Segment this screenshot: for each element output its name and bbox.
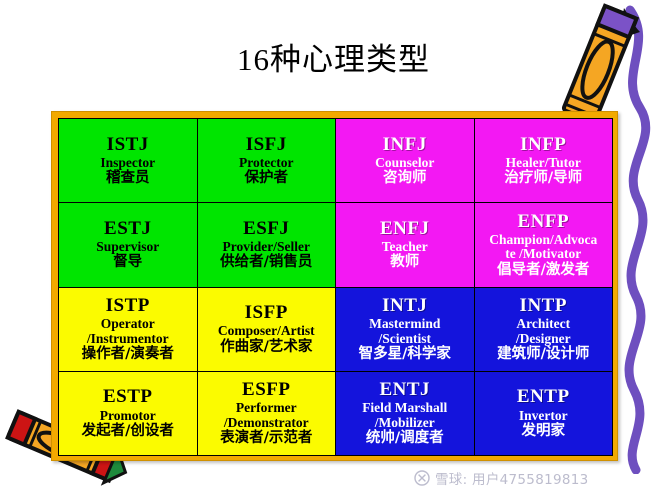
slide-canvas: 16种心理类型 (0, 0, 667, 500)
type-code: ENTJ (379, 380, 430, 400)
type-name-zh: 保护者 (245, 171, 289, 186)
type-cell-enfj[interactable]: ENFJ Teacher 教师 (336, 203, 474, 286)
type-name-zh: 统帅/调度者 (366, 431, 444, 446)
type-name-zh: 教师 (390, 255, 419, 270)
page-title: 16种心理类型 (0, 44, 667, 75)
type-name-en-line2: /Designer (516, 332, 571, 346)
personality-type-grid: ISTJ Inspector 稽查员 ISFJ Protector 保护者 IN… (58, 118, 613, 456)
type-cell-infp[interactable]: INFP Healer/Tutor 治疗师/导师 (475, 119, 613, 202)
type-code: ENFP (517, 212, 569, 232)
type-name-en: Provider/Seller (223, 240, 310, 254)
type-cell-esfp[interactable]: ESFP Performer /Demonstrator 表演者/示范者 (198, 372, 336, 455)
type-name-en-line2: /Scientist (379, 332, 432, 346)
type-name-zh: 治疗师/导师 (504, 171, 582, 186)
type-cell-istp[interactable]: ISTP Operator /Instrumentor 操作者/演奏者 (59, 288, 197, 371)
type-cell-estj[interactable]: ESTJ Supervisor 督导 (59, 203, 197, 286)
type-name-zh: 稽查员 (106, 171, 150, 186)
type-cell-esfj[interactable]: ESFJ Provider/Seller 供给者/销售员 (198, 203, 336, 286)
type-cell-intj[interactable]: INTJ Mastermind /Scientist 智多星/科学家 (336, 288, 474, 371)
type-name-zh: 督导 (113, 255, 142, 270)
type-code: ESTJ (104, 219, 151, 239)
type-cell-isfp[interactable]: ISFP Composer/Artist 作曲家/艺术家 (198, 288, 336, 371)
type-name-en: Champion/Advoca (489, 233, 597, 247)
type-name-en: Protector (239, 156, 293, 170)
type-name-en: Performer (236, 401, 297, 415)
type-code: ISTP (106, 296, 150, 316)
type-name-en-line2: /Instrumentor (87, 332, 169, 346)
type-name-en: Invertor (519, 409, 568, 423)
type-code: ISTJ (107, 135, 149, 155)
type-cell-istj[interactable]: ISTJ Inspector 稽查员 (59, 119, 197, 202)
type-name-en: Field Marshall (362, 401, 447, 415)
type-code: ISFP (245, 303, 288, 323)
watermark: 雪球: 用户4755819813 (414, 468, 589, 488)
type-cell-enfp[interactable]: ENFP Champion/Advoca te /Motivator 倡导者/激… (475, 203, 613, 286)
type-cell-entp[interactable]: ENTP Invertor 发明家 (475, 372, 613, 455)
type-name-en-line2: /Demonstrator (224, 416, 309, 430)
type-code: ENTP (517, 387, 570, 407)
type-cell-entj[interactable]: ENTJ Field Marshall /Mobilizer 统帅/调度者 (336, 372, 474, 455)
type-name-en: Healer/Tutor (506, 156, 581, 170)
type-grid-frame: ISTJ Inspector 稽查员 ISFJ Protector 保护者 IN… (51, 111, 618, 461)
type-name-en: Operator (101, 317, 155, 331)
type-name-en-line2: /Mobilizer (375, 416, 435, 430)
watermark-text: 雪球: 用户4755819813 (435, 468, 589, 488)
type-name-en: Supervisor (96, 240, 159, 254)
type-name-en-line2: te /Motivator (505, 247, 581, 261)
type-name-zh: 发明家 (522, 424, 566, 439)
type-name-zh: 供给者/销售员 (220, 255, 312, 270)
type-name-en: Architect (516, 317, 570, 331)
type-code: INTP (520, 296, 567, 316)
type-name-zh: 作曲家/艺术家 (220, 340, 312, 355)
type-name-en: Composer/Artist (218, 324, 315, 338)
type-cell-infj[interactable]: INFJ Counselor 咨询师 (336, 119, 474, 202)
type-name-en: Teacher (382, 240, 428, 254)
type-code: INTJ (382, 296, 427, 316)
type-name-en: Mastermind (369, 317, 440, 331)
type-code: ESFP (242, 380, 290, 400)
type-code: ENFJ (380, 219, 430, 239)
type-code: ESFJ (243, 219, 289, 239)
type-name-zh: 操作者/演奏者 (82, 347, 174, 362)
type-name-zh: 表演者/示范者 (220, 431, 312, 446)
type-cell-intp[interactable]: INTP Architect /Designer 建筑师/设计师 (475, 288, 613, 371)
type-name-en: Promotor (100, 409, 156, 423)
type-name-zh: 倡导者/激发者 (497, 263, 589, 278)
type-code: INFJ (383, 135, 427, 155)
type-code: ESTP (103, 387, 153, 407)
type-name-zh: 智多星/科学家 (359, 347, 451, 362)
type-cell-estp[interactable]: ESTP Promotor 发起者/创设者 (59, 372, 197, 455)
type-name-zh: 咨询师 (383, 171, 427, 186)
type-cell-isfj[interactable]: ISFJ Protector 保护者 (198, 119, 336, 202)
type-name-zh: 发起者/创设者 (82, 424, 174, 439)
xueqiu-logo-icon (414, 470, 430, 486)
type-name-en: Counselor (375, 156, 434, 170)
type-name-en: Inspector (100, 156, 155, 170)
type-code: ISFJ (246, 135, 287, 155)
type-name-zh: 建筑师/设计师 (497, 347, 589, 362)
type-code: INFP (520, 135, 566, 155)
